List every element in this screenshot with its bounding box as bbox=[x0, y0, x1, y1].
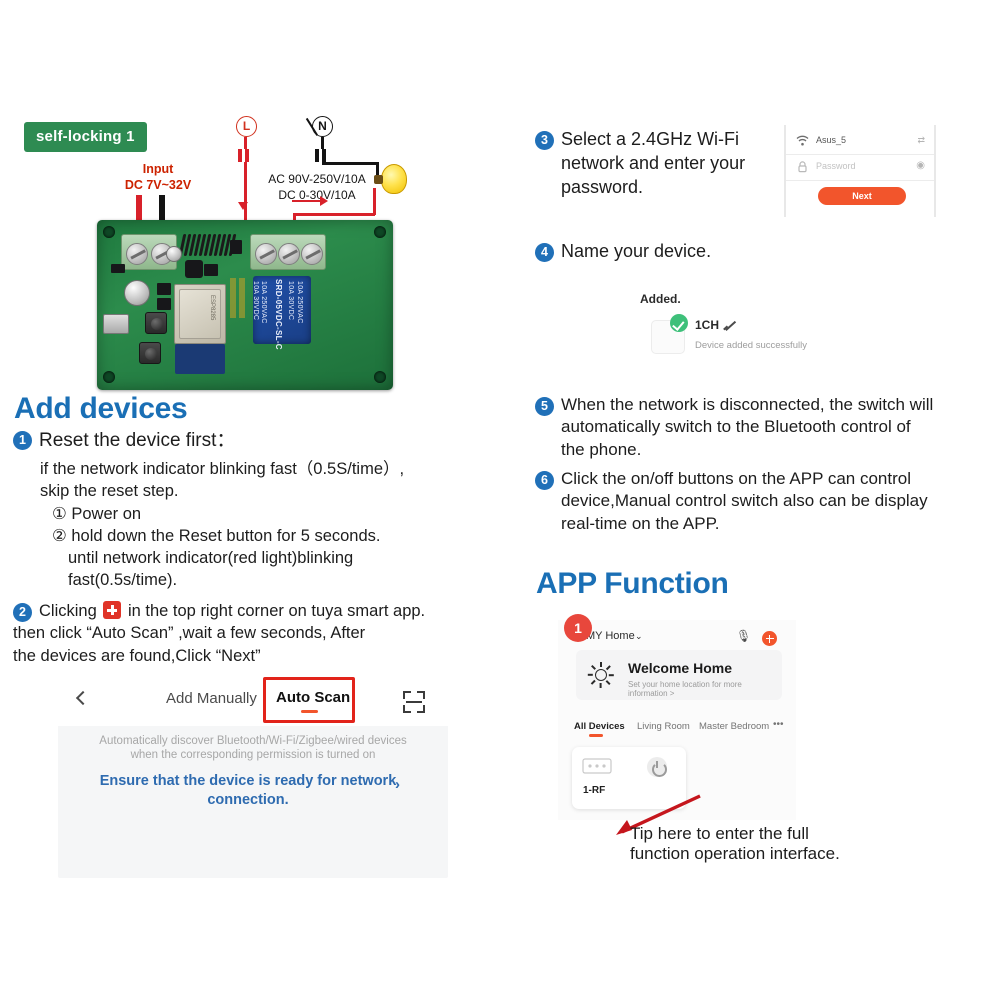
auto-scan-highlight-box bbox=[263, 677, 355, 723]
step-3-number: 3 bbox=[535, 131, 554, 150]
regulator-chip bbox=[204, 264, 218, 276]
relay-text: 10A 30VDC bbox=[287, 281, 294, 320]
right-column: 3 Select a 2.4GHz Wi-Fi network and ente… bbox=[520, 0, 1000, 1000]
ic-chip bbox=[157, 298, 171, 310]
step-5-line-3: the phone. bbox=[561, 439, 933, 461]
step-6: 6 Click the on/off buttons on the APP ca… bbox=[535, 468, 1000, 535]
reset-button[interactable] bbox=[145, 312, 167, 334]
relay-text: 10A 250VAC bbox=[260, 281, 267, 324]
chevron-right-icon[interactable]: › bbox=[395, 776, 400, 793]
live-terminal-icon: L bbox=[236, 116, 257, 137]
device-added-screenshot: Added. 1CH Device added successfully bbox=[615, 288, 895, 373]
ssid-value: Asus_5 bbox=[816, 135, 846, 145]
tip-line-2: function operation interface. bbox=[630, 844, 980, 864]
step-1-line-1: if the network indicator blinking fast（0… bbox=[40, 458, 520, 480]
lamp-icon bbox=[381, 164, 407, 194]
step-2-text-before: Clicking bbox=[39, 602, 97, 620]
wifi-setup-screenshot: Asus_5 ⇄ Password ◉ Next bbox=[784, 125, 936, 217]
step-2-line-1: Clicking in the top right corner on tuya… bbox=[39, 600, 518, 622]
step-2: 2 Clicking in the top right corner on tu… bbox=[13, 600, 518, 667]
input-label-line1: Input bbox=[108, 162, 208, 178]
terminal-screw bbox=[278, 243, 300, 265]
switch-network-icon[interactable]: ⇄ bbox=[917, 135, 925, 146]
neutral-wire-right bbox=[322, 162, 378, 165]
welcome-title: Welcome Home bbox=[628, 660, 732, 676]
rf-switch-icon bbox=[582, 758, 612, 774]
terminal-screw bbox=[126, 243, 148, 265]
pcb-antenna bbox=[175, 344, 225, 374]
step-5-line-2: automatically switch to the Bluetooth co… bbox=[561, 416, 933, 438]
auto-scan-hint-line-1: Automatically discover Bluetooth/Wi-Fi/Z… bbox=[76, 735, 430, 747]
manual-button[interactable] bbox=[139, 342, 161, 364]
step-1-line-3: ① Power on bbox=[52, 503, 520, 525]
current-arrow-down bbox=[238, 202, 248, 210]
step-3: 3 Select a 2.4GHz Wi-Fi network and ente… bbox=[535, 128, 775, 199]
neutral-wire-top bbox=[321, 137, 324, 149]
step-1-line-4: ② hold down the Reset button for 5 secon… bbox=[52, 525, 520, 547]
step-1-line-6: fast(0.5s/time). bbox=[68, 569, 520, 591]
header-pins bbox=[230, 240, 242, 254]
home-name[interactable]: MY Home bbox=[586, 630, 635, 642]
step-5-number: 5 bbox=[535, 397, 554, 416]
relay-component: 10A 250VAC 10A 30VDC SRD-05VDC-SL-C 10A … bbox=[253, 276, 311, 344]
step-2-line-3: the devices are found,Click “Next” bbox=[13, 645, 518, 667]
smd-part bbox=[111, 264, 125, 273]
inductor bbox=[166, 246, 182, 262]
sun-icon bbox=[588, 662, 614, 688]
step-6-line-3: real-time on the APP. bbox=[561, 513, 928, 535]
wifi-module: ESP8285 bbox=[174, 284, 226, 344]
tip-line-1: Tip here to enter the full bbox=[630, 824, 980, 844]
step-1-body: if the network indicator blinking fast（0… bbox=[40, 458, 520, 592]
current-arrow-right bbox=[320, 196, 328, 206]
added-status: Device added successfully bbox=[695, 340, 807, 351]
callout-number-1: 1 bbox=[564, 614, 592, 642]
pencil-icon[interactable] bbox=[723, 316, 737, 330]
solder-pads bbox=[239, 278, 245, 318]
add-devices-heading: Add devices bbox=[14, 392, 187, 426]
welcome-subtitle: Set your home location for more informat… bbox=[628, 680, 782, 698]
step-1-line-5: until network indicator(red light)blinki… bbox=[68, 547, 520, 569]
lock-icon bbox=[797, 161, 808, 173]
step-3-line-3: password. bbox=[561, 176, 745, 200]
step-1: 1 Reset the device first： bbox=[13, 428, 513, 453]
password-input[interactable]: Password bbox=[816, 161, 856, 171]
tip-text: Tip here to enter the full function oper… bbox=[630, 824, 980, 864]
tab-all-devices[interactable]: All Devices bbox=[574, 721, 625, 732]
plus-icon bbox=[103, 601, 121, 619]
step-4: 4 Name your device. bbox=[535, 240, 835, 264]
lamp-return-wire bbox=[373, 188, 376, 215]
network-ready-link-line-1[interactable]: Ensure that the device is ready for netw… bbox=[88, 773, 408, 789]
output-terminal bbox=[250, 234, 326, 270]
inductor-coil bbox=[185, 260, 203, 278]
step-3-line-2: network and enter your bbox=[561, 152, 745, 176]
relay-board: 10A 250VAC 10A 30VDC SRD-05VDC-SL-C 10A … bbox=[97, 220, 393, 390]
step-2-number: 2 bbox=[13, 603, 32, 622]
tab-living-room[interactable]: Living Room bbox=[637, 721, 690, 732]
live-wire-top bbox=[244, 137, 247, 149]
relay-part-number: SRD-05VDC-SL-C bbox=[274, 279, 283, 350]
step-4-number: 4 bbox=[535, 243, 554, 262]
tab-more-icon[interactable]: ••• bbox=[773, 719, 784, 730]
step-6-number: 6 bbox=[535, 471, 554, 490]
relay-text: 10A 30VDC bbox=[252, 281, 259, 320]
terminal-screw bbox=[255, 243, 277, 265]
ssid-row[interactable]: Asus_5 ⇄ bbox=[786, 129, 934, 155]
step-3-line-1: Select a 2.4GHz Wi-Fi bbox=[561, 128, 745, 152]
relay-text: 10A 250VAC bbox=[296, 281, 303, 324]
auto-scan-hint-line-2: when the corresponding permission is tur… bbox=[76, 749, 430, 761]
micro-usb-port bbox=[103, 314, 129, 334]
module-label: ESP8285 bbox=[209, 295, 215, 320]
step-6-line-1: Click the on/off buttons on the APP can … bbox=[561, 468, 928, 490]
wifi-icon bbox=[796, 135, 809, 147]
step-5-line-1: When the network is disconnected, the sw… bbox=[561, 394, 933, 416]
mount-hole bbox=[103, 226, 115, 238]
tab-add-manually[interactable]: Add Manually bbox=[166, 690, 257, 707]
eye-icon[interactable]: ◉ bbox=[916, 160, 925, 171]
added-device-name: 1CH bbox=[695, 318, 719, 332]
tab-all-devices-underline bbox=[589, 734, 603, 737]
electrolytic-capacitor bbox=[124, 280, 150, 306]
solder-pads bbox=[230, 278, 236, 318]
next-button[interactable]: Next bbox=[818, 187, 906, 205]
rf-antenna-coil bbox=[181, 234, 237, 256]
app-function-heading: APP Function bbox=[536, 567, 729, 601]
power-icon[interactable] bbox=[647, 757, 667, 777]
chevron-down-icon[interactable]: ⌄ bbox=[635, 631, 643, 642]
auto-scan-screenshot: Add Manually Auto Scan Automatically dis… bbox=[58, 673, 448, 878]
step-1-title: Reset the device first： bbox=[39, 428, 235, 453]
plus-circle-icon[interactable] bbox=[762, 631, 777, 646]
step-5: 5 When the network is disconnected, the … bbox=[535, 394, 1000, 461]
network-ready-link-line-2[interactable]: connection. bbox=[88, 792, 408, 808]
step-6-line-2: device,Manual control switch also can be… bbox=[561, 490, 928, 512]
load-rating-line1: AC 90V-250V/10A bbox=[242, 172, 392, 187]
step-1-line-2: skip the reset step. bbox=[40, 480, 520, 502]
lamp-return-wire-h bbox=[293, 213, 375, 216]
step-4-text: Name your device. bbox=[561, 240, 711, 264]
check-circle-icon bbox=[670, 314, 688, 332]
qr-scan-icon[interactable] bbox=[403, 691, 425, 713]
tab-master-bedroom[interactable]: Master Bedroom bbox=[699, 721, 769, 732]
step-2-text-after: in the top right corner on tuya smart ap… bbox=[128, 602, 425, 620]
mount-hole bbox=[103, 371, 115, 383]
ic-chip bbox=[157, 283, 171, 295]
welcome-card[interactable]: Welcome Home Set your home location for … bbox=[576, 650, 782, 700]
mount-hole bbox=[374, 226, 386, 238]
password-row[interactable]: Password ◉ bbox=[786, 155, 934, 181]
terminal-screw bbox=[301, 243, 323, 265]
step-2-line-2: then click “Auto Scan” ,wait a few secon… bbox=[13, 622, 518, 644]
mount-hole bbox=[374, 371, 386, 383]
added-title: Added. bbox=[640, 292, 681, 306]
microphone-icon[interactable]: 🎙 bbox=[736, 629, 751, 643]
current-arrow-line bbox=[292, 200, 322, 202]
step-1-number: 1 bbox=[13, 431, 32, 450]
input-label-line2: DC 7V~32V bbox=[98, 178, 218, 194]
left-column: self-locking 1 Input DC 7V~32V L N AC 90… bbox=[0, 0, 520, 1000]
